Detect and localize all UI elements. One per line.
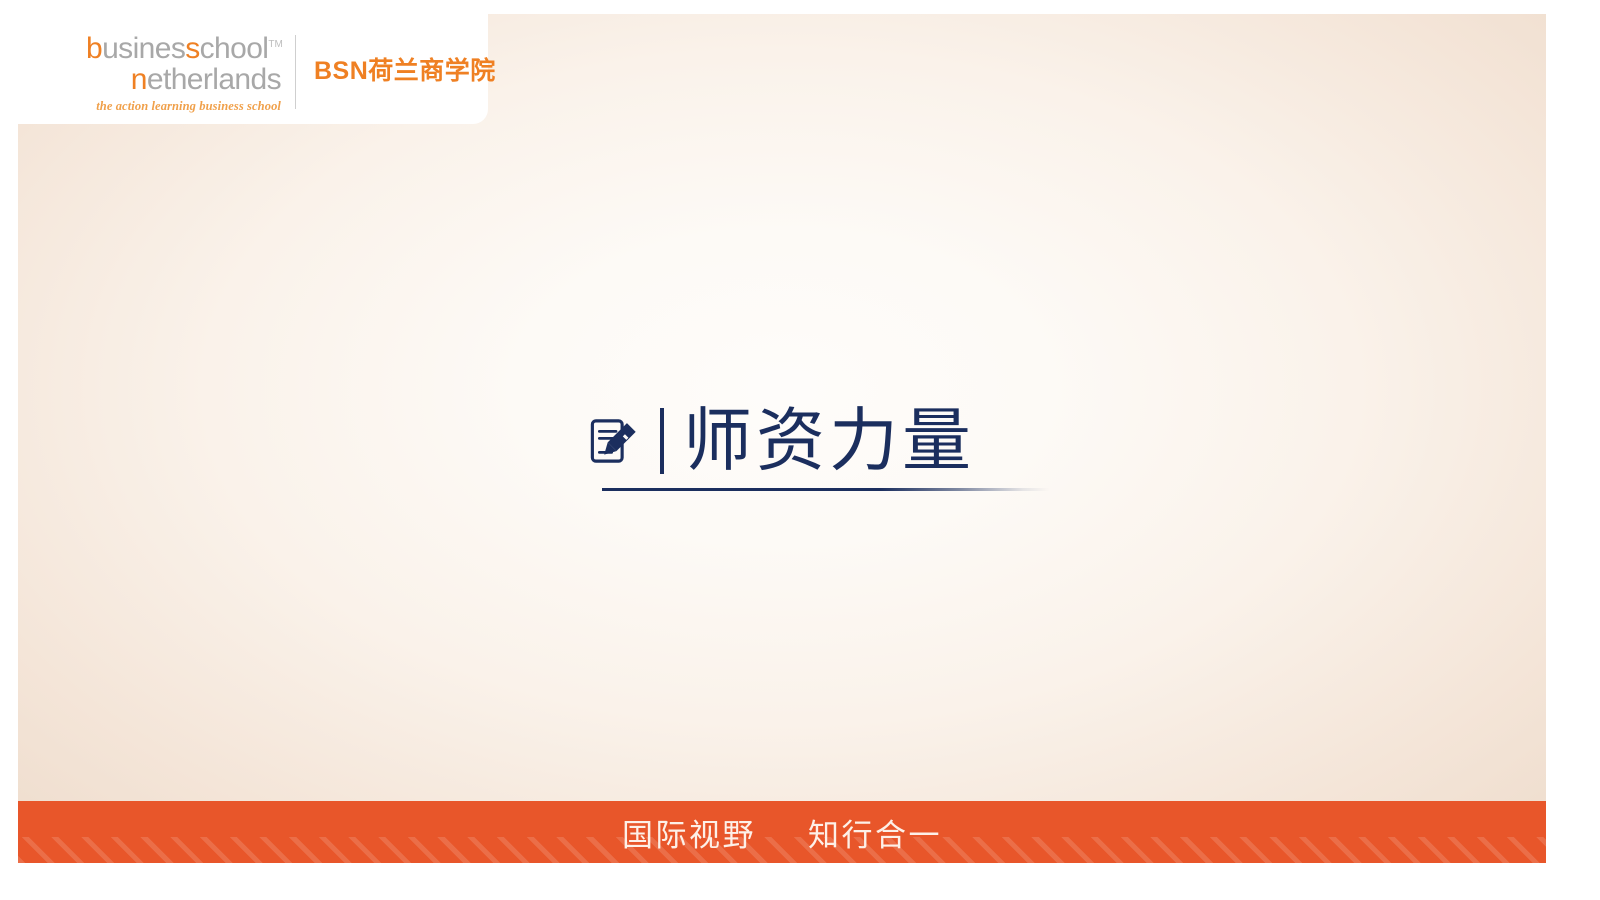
footer-phrase-1: 国际视野 xyxy=(622,810,756,855)
logo-plate: businesschoolTM netherlands the action l… xyxy=(18,14,488,124)
logo-wordmark-line-2: netherlands xyxy=(86,65,281,95)
logo-inner: businesschoolTM netherlands the action l… xyxy=(86,30,496,113)
footer-bar: 国际视野 知行合一 xyxy=(18,801,1546,863)
logo-text-usines: usines xyxy=(102,32,185,65)
footer-slogan: 国际视野 知行合一 xyxy=(18,801,1546,863)
title-block: 师资力量 xyxy=(584,399,1044,483)
logo-chinese-name: BSN荷兰商学院 xyxy=(314,51,496,93)
logo-wordmark-line-1: businesschoolTM xyxy=(86,30,281,64)
logo-tagline: the action learning business school xyxy=(86,99,281,113)
title-underline xyxy=(602,488,1050,491)
trademark-icon: TM xyxy=(268,39,282,50)
logo-text-chool: chool xyxy=(200,32,269,65)
slide-canvas: businesschoolTM netherlands the action l… xyxy=(18,14,1546,863)
logo-text-etherlands: etherlands xyxy=(147,63,281,96)
logo-letter-b: b xyxy=(86,32,102,65)
logo-wordmark: businesschoolTM netherlands the action l… xyxy=(86,30,285,113)
document-pencil-icon xyxy=(588,413,644,469)
page-title: 师资力量 xyxy=(683,403,975,479)
title-accent-bar xyxy=(660,408,664,474)
logo-divider xyxy=(295,35,296,109)
logo-letter-s: s xyxy=(185,32,199,65)
footer-phrase-2: 知行合一 xyxy=(808,810,942,855)
title-row: 师资力量 xyxy=(584,399,1044,483)
logo-letter-n: n xyxy=(131,63,147,96)
